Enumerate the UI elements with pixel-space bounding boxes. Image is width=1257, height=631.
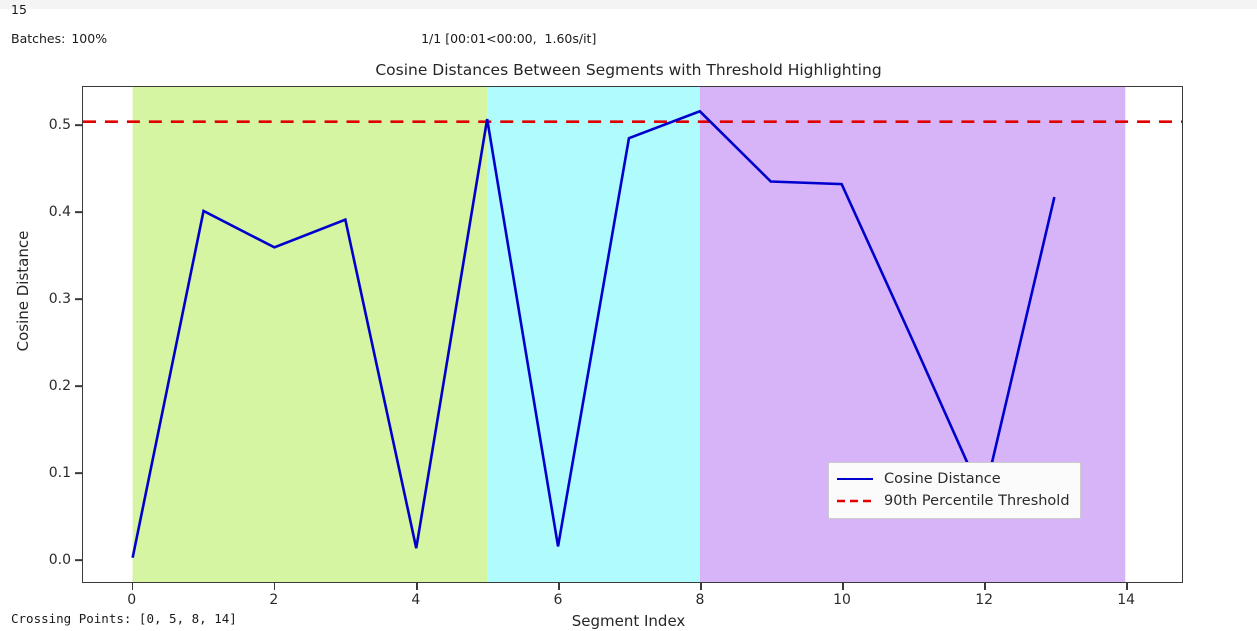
legend-item: 90th Percentile Threshold	[836, 490, 1073, 512]
y-tick-mark	[75, 560, 82, 562]
tqdm-progress-bar	[116, 31, 410, 46]
x-tick-label: 0	[127, 592, 136, 608]
notebook-output-strip	[0, 0, 1257, 9]
x-tick-mark	[274, 583, 276, 590]
y-tick-label: 0.3	[11, 291, 71, 307]
tqdm-percent-label: 100%	[71, 31, 107, 46]
y-tick-label: 0.1	[11, 465, 71, 481]
x-tick-label: 8	[696, 592, 705, 608]
x-tick-label: 10	[833, 592, 851, 608]
legend-label: 90th Percentile Threshold	[884, 493, 1070, 509]
tqdm-progress-row: Batches: 100% 1/1 [00:01<00:00, 1.60s/it…	[11, 29, 596, 47]
x-tick-mark	[416, 583, 418, 590]
matplotlib-figure: Cosine Distances Between Segments with T…	[0, 52, 1257, 612]
x-tick-label: 4	[411, 592, 420, 608]
y-tick-label: 0.5	[11, 117, 71, 133]
x-tick-label: 12	[975, 592, 993, 608]
y-tick-label: 0.2	[11, 378, 71, 394]
x-tick-mark	[558, 583, 560, 590]
x-tick-mark	[984, 583, 986, 590]
stdout-line-count: 15	[11, 2, 27, 17]
legend-line-dashed-icon	[836, 494, 874, 508]
y-tick-label: 0.0	[11, 552, 71, 568]
legend-item: Cosine Distance	[836, 468, 1073, 490]
y-tick-label: 0.4	[11, 204, 71, 220]
tqdm-description: Batches:	[11, 31, 65, 46]
highlight-span	[133, 87, 488, 582]
x-tick-label: 6	[553, 592, 562, 608]
x-tick-mark	[700, 583, 702, 590]
x-tick-mark	[842, 583, 844, 590]
legend-label: Cosine Distance	[884, 471, 1001, 487]
y-tick-mark	[75, 385, 82, 387]
y-tick-mark	[75, 472, 82, 474]
legend-line-solid-icon	[836, 472, 874, 486]
x-tick-mark	[132, 583, 134, 590]
y-tick-mark	[75, 124, 82, 126]
y-tick-mark	[75, 298, 82, 300]
highlight-span	[487, 87, 700, 582]
x-tick-label: 2	[269, 592, 278, 608]
tqdm-stats: 1/1 [00:01<00:00, 1.60s/it]	[421, 31, 596, 46]
x-tick-mark	[1126, 583, 1128, 590]
chart-legend: Cosine Distance 90th Percentile Threshol…	[828, 462, 1081, 519]
chart-title: Cosine Distances Between Segments with T…	[0, 61, 1257, 79]
y-tick-mark	[75, 211, 82, 213]
crossing-points-output: Crossing Points: [0, 5, 8, 14]	[11, 611, 237, 626]
x-tick-label: 14	[1117, 592, 1135, 608]
